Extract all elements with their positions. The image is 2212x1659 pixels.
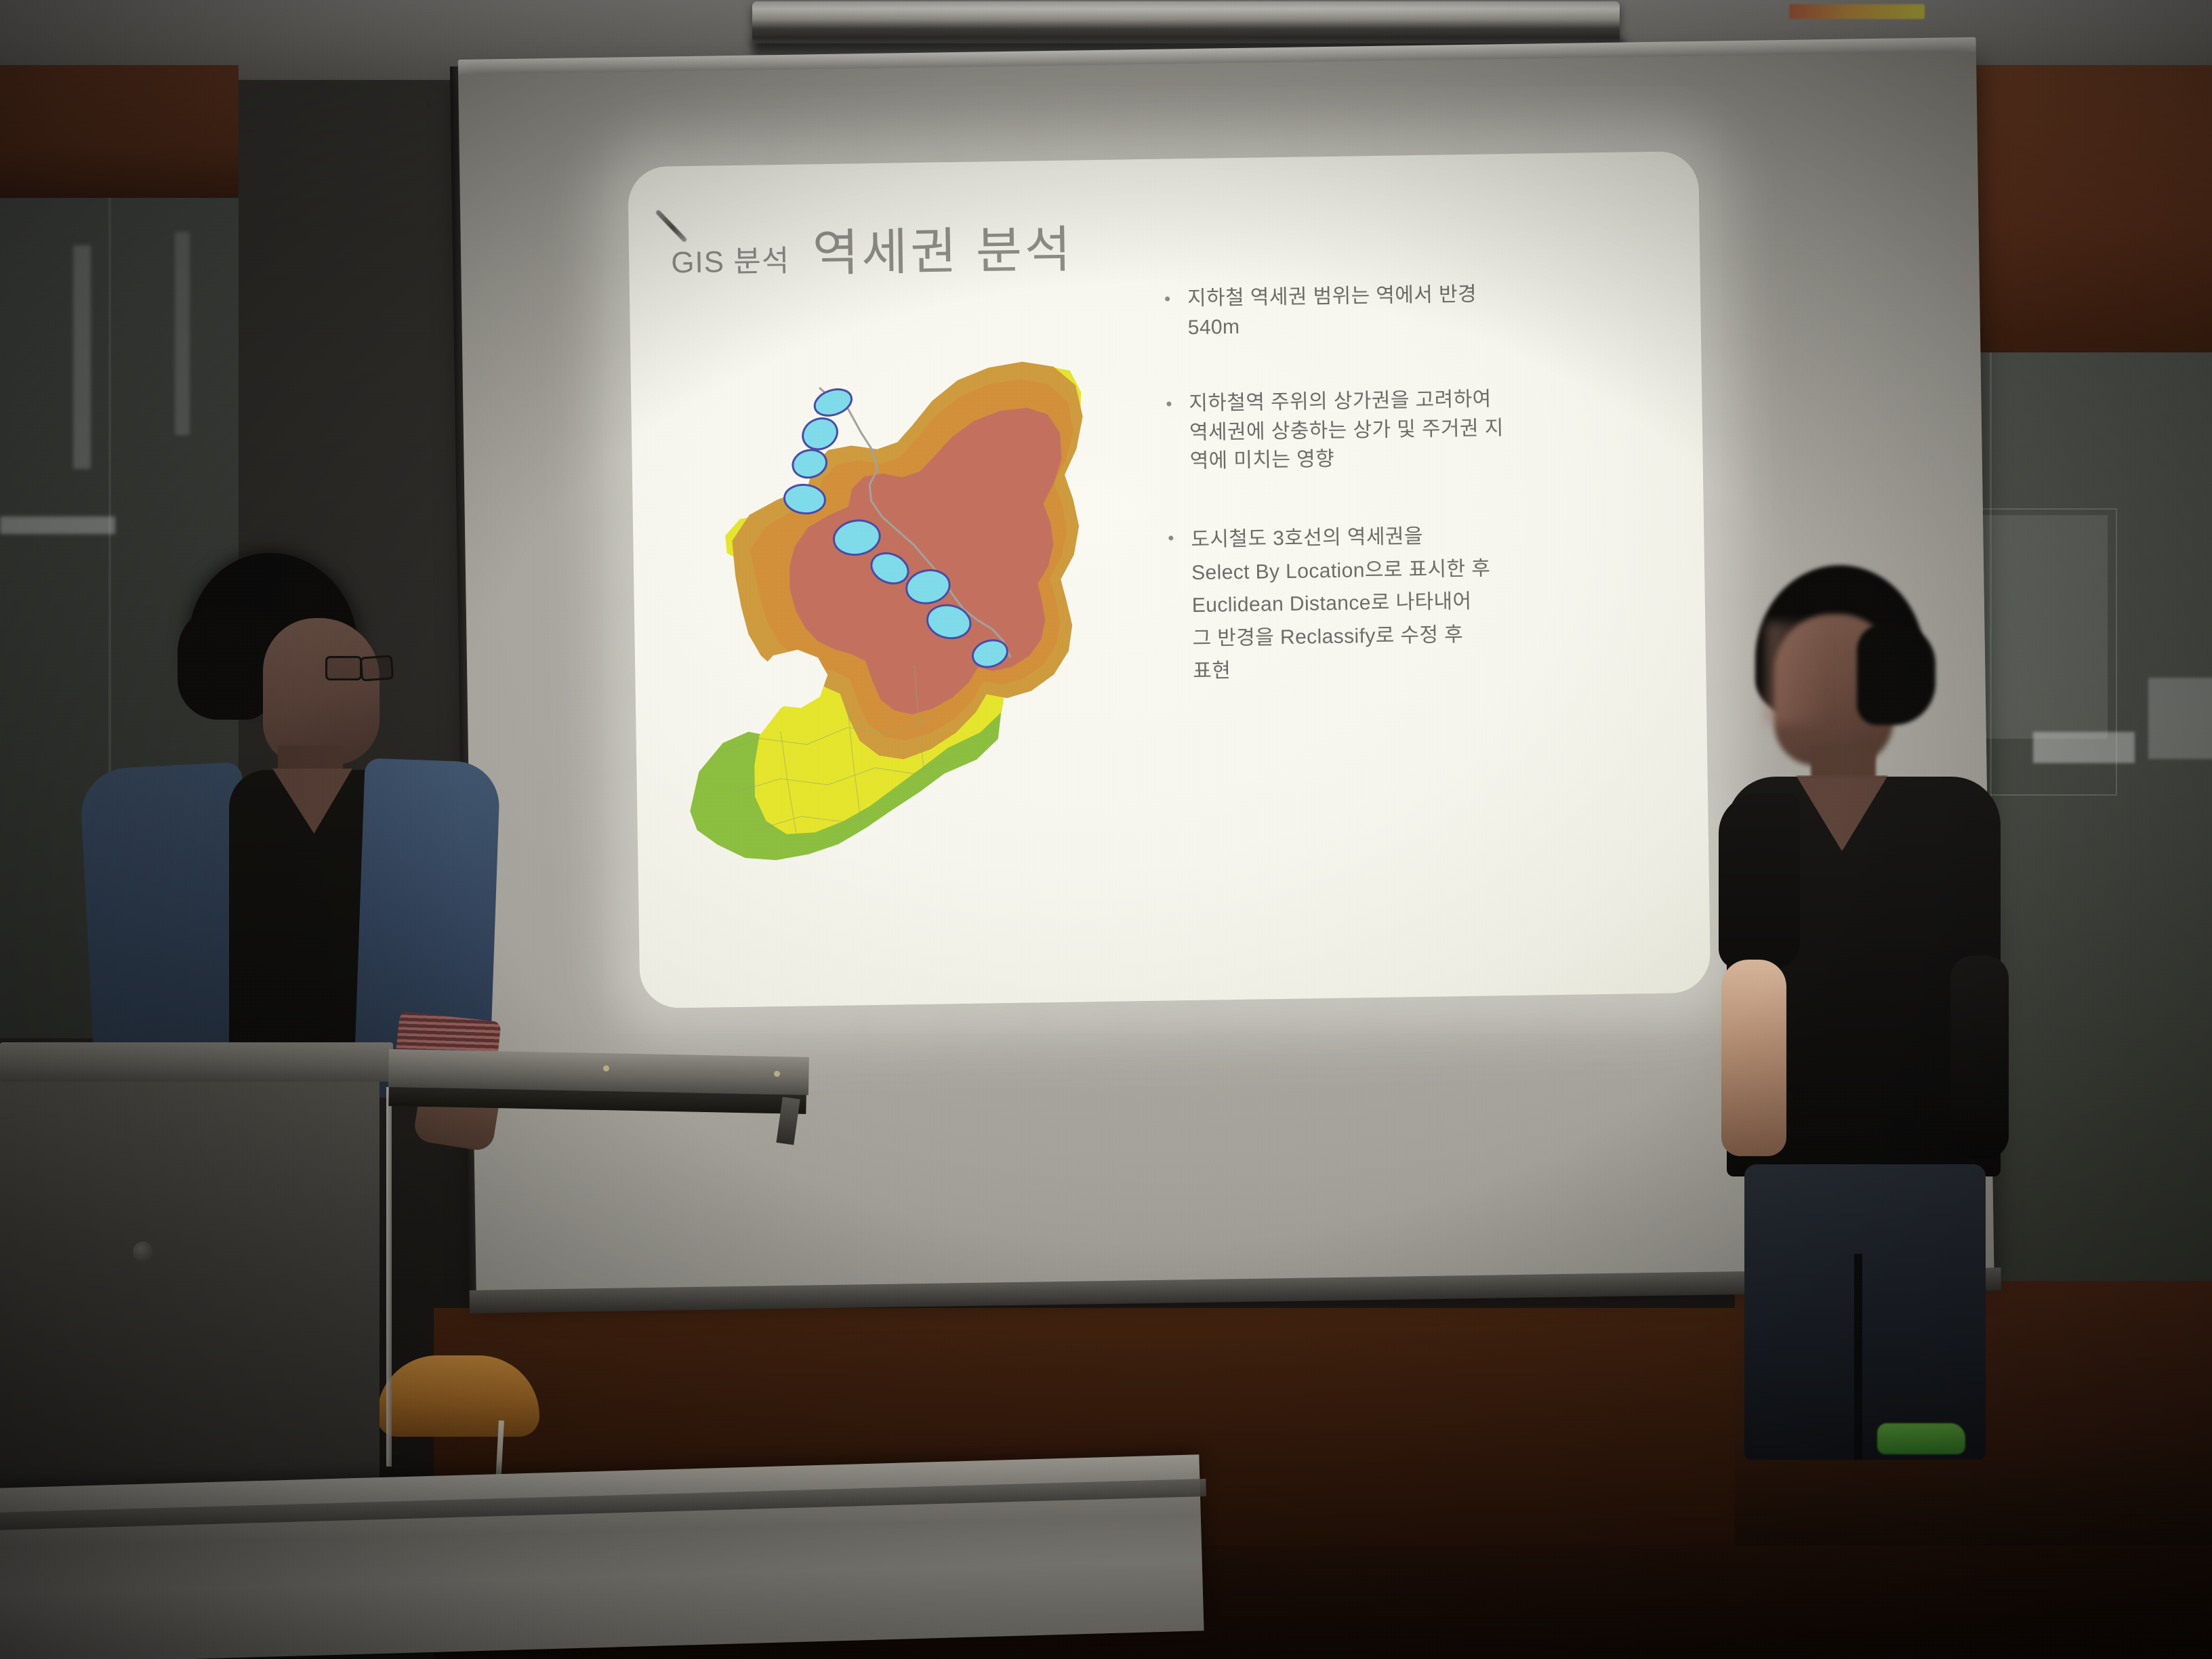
glass-reflection (0, 516, 115, 534)
lectern (0, 1059, 380, 1533)
bullet-line: Euclidean Distance로 나타내어 (1191, 586, 1491, 623)
shoe (1877, 1423, 1965, 1454)
bullet-dot-icon (1166, 402, 1171, 407)
bullet-item: 도시철도 3호선의 역세권을 Select By Location으로 표시한 … (1168, 517, 1659, 689)
bullet-dot-icon (1165, 296, 1170, 301)
gis-raster-svg (672, 327, 1101, 868)
classroom-presentation-photo: GIS 분석 역세권 분석 (0, 0, 2212, 1659)
glass-reflection (175, 232, 190, 435)
lectern-shelf (388, 1049, 809, 1095)
shelf-screw (603, 1065, 609, 1071)
bullet-dot-icon (1168, 535, 1173, 540)
glasses-lens (360, 655, 394, 681)
hair-back (178, 605, 272, 720)
bullet-text: 지하철 역세권 범위는 역에서 반경 540m (1187, 281, 1477, 343)
bullet-line: 도시철도 3호선의 역세권을 (1191, 519, 1490, 556)
presentation-slide: GIS 분석 역세권 분석 (628, 151, 1711, 1008)
glasses-icon (325, 656, 396, 679)
bullet-text: 지하철역 주위의 상가권을 고려하여 역세권에 상충하는 상가 및 주거권 지 … (1189, 385, 1504, 476)
bullet-line: 지하철역 주위의 상가권을 고려하여 (1189, 385, 1503, 418)
bullet-line: 역에 미치는 영향 (1189, 443, 1504, 476)
glasses-lens (325, 656, 362, 680)
screen-roller-housing (752, 1, 1620, 43)
shelf-screw (774, 1071, 780, 1077)
bullet-line: 지하철 역세권 범위는 역에서 반경 (1187, 281, 1477, 314)
glass-reflection (2148, 678, 2212, 759)
bullet-text: 도시철도 3호선의 역세권을 Select By Location으로 표시한 … (1191, 519, 1492, 688)
jeans (1744, 1164, 1986, 1460)
bullet-line: 540m (1187, 309, 1477, 342)
roller-sticker (1789, 4, 1925, 19)
station-buffer (811, 385, 855, 420)
motion-blur (1766, 622, 1828, 724)
lectern-top (0, 1042, 393, 1082)
slide-bullet-list: 지하철 역세권 범위는 역에서 반경 540m 지하철역 주위의 상가권을 고려… (1165, 278, 1660, 737)
presenter-right (1654, 549, 2074, 1457)
bullet-line: 역세권에 상충하는 상가 및 주거권 지 (1189, 414, 1504, 447)
bullet-line: 그 반경을 Reclassify로 수정 후 (1192, 618, 1492, 655)
lectern-knob (133, 1242, 153, 1262)
bullet-line: 표현 (1193, 651, 1492, 689)
face (263, 618, 380, 764)
bullet-item: 지하철역 주위의 상가권을 고려하여 역세권에 상충하는 상가 및 주거권 지 … (1166, 383, 1656, 476)
gis-map-image (672, 327, 1101, 868)
slide-main-title: 역세권 분석 (812, 209, 1074, 286)
leg-gap (1854, 1254, 1862, 1460)
wood-panel-left (0, 65, 239, 198)
station-buffer (798, 413, 842, 455)
bullet-item: 지하철 역세권 범위는 역에서 반경 540m (1165, 278, 1654, 343)
slide-title-row: GIS 분석 역세권 분석 (670, 209, 1073, 288)
forearm (1950, 956, 2009, 1159)
bullet-line: Select By Location으로 표시한 후 (1191, 552, 1491, 590)
lectern-edge-highlight (386, 1087, 392, 1467)
chair-seat (377, 1355, 539, 1437)
hair-back (1857, 623, 1935, 725)
glass-reflection (73, 245, 91, 469)
slide-eyebrow-title: GIS 분석 (671, 237, 790, 282)
forearm (1721, 960, 1786, 1156)
sleeve (1719, 793, 1800, 969)
